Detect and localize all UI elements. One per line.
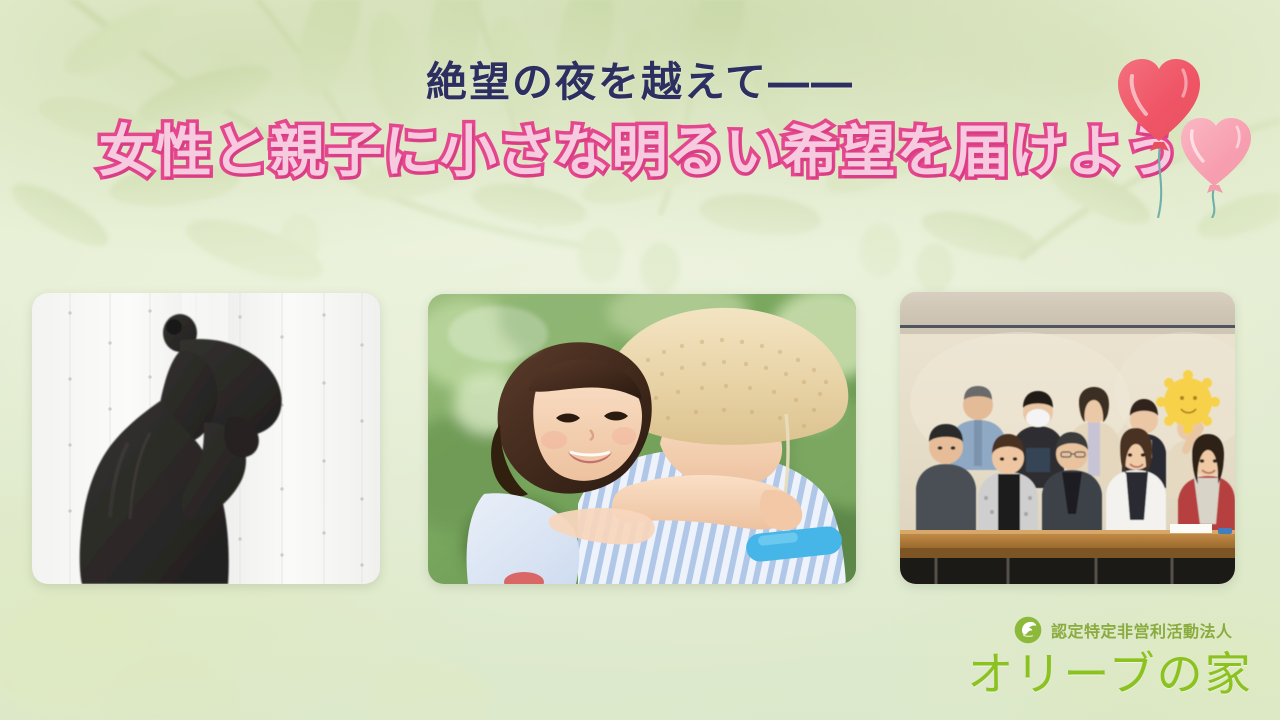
photo-woman-in-distress [32, 293, 380, 584]
logo-org-type: 認定特定非営利活動法人 [1051, 618, 1233, 642]
heart-balloons-decoration [1088, 28, 1278, 218]
photo-staff-group [900, 292, 1235, 584]
paper-on-table [1170, 524, 1212, 533]
banner-title: 女性と親子に小さな明るい希望を届けよう [99, 124, 1182, 183]
photo-child-hug [428, 294, 856, 584]
logo-top-row: 認定特定非営利活動法人 [960, 614, 1260, 646]
campaign-banner: 絶望の夜を越えて―― 女性と親子に小さな明るい希望を届けよう [0, 0, 1280, 720]
logo-org-name: オリーブの家 [960, 648, 1260, 701]
sun-decoration [1156, 370, 1220, 434]
balloon-string-pink [1212, 188, 1214, 218]
organization-logo: 認定特定非営利活動法人 オリーブの家 [960, 614, 1260, 710]
heart-balloon-pink-icon [1181, 118, 1251, 193]
dove-leaf-icon [1014, 616, 1042, 644]
balloon-string-red [1158, 146, 1161, 218]
